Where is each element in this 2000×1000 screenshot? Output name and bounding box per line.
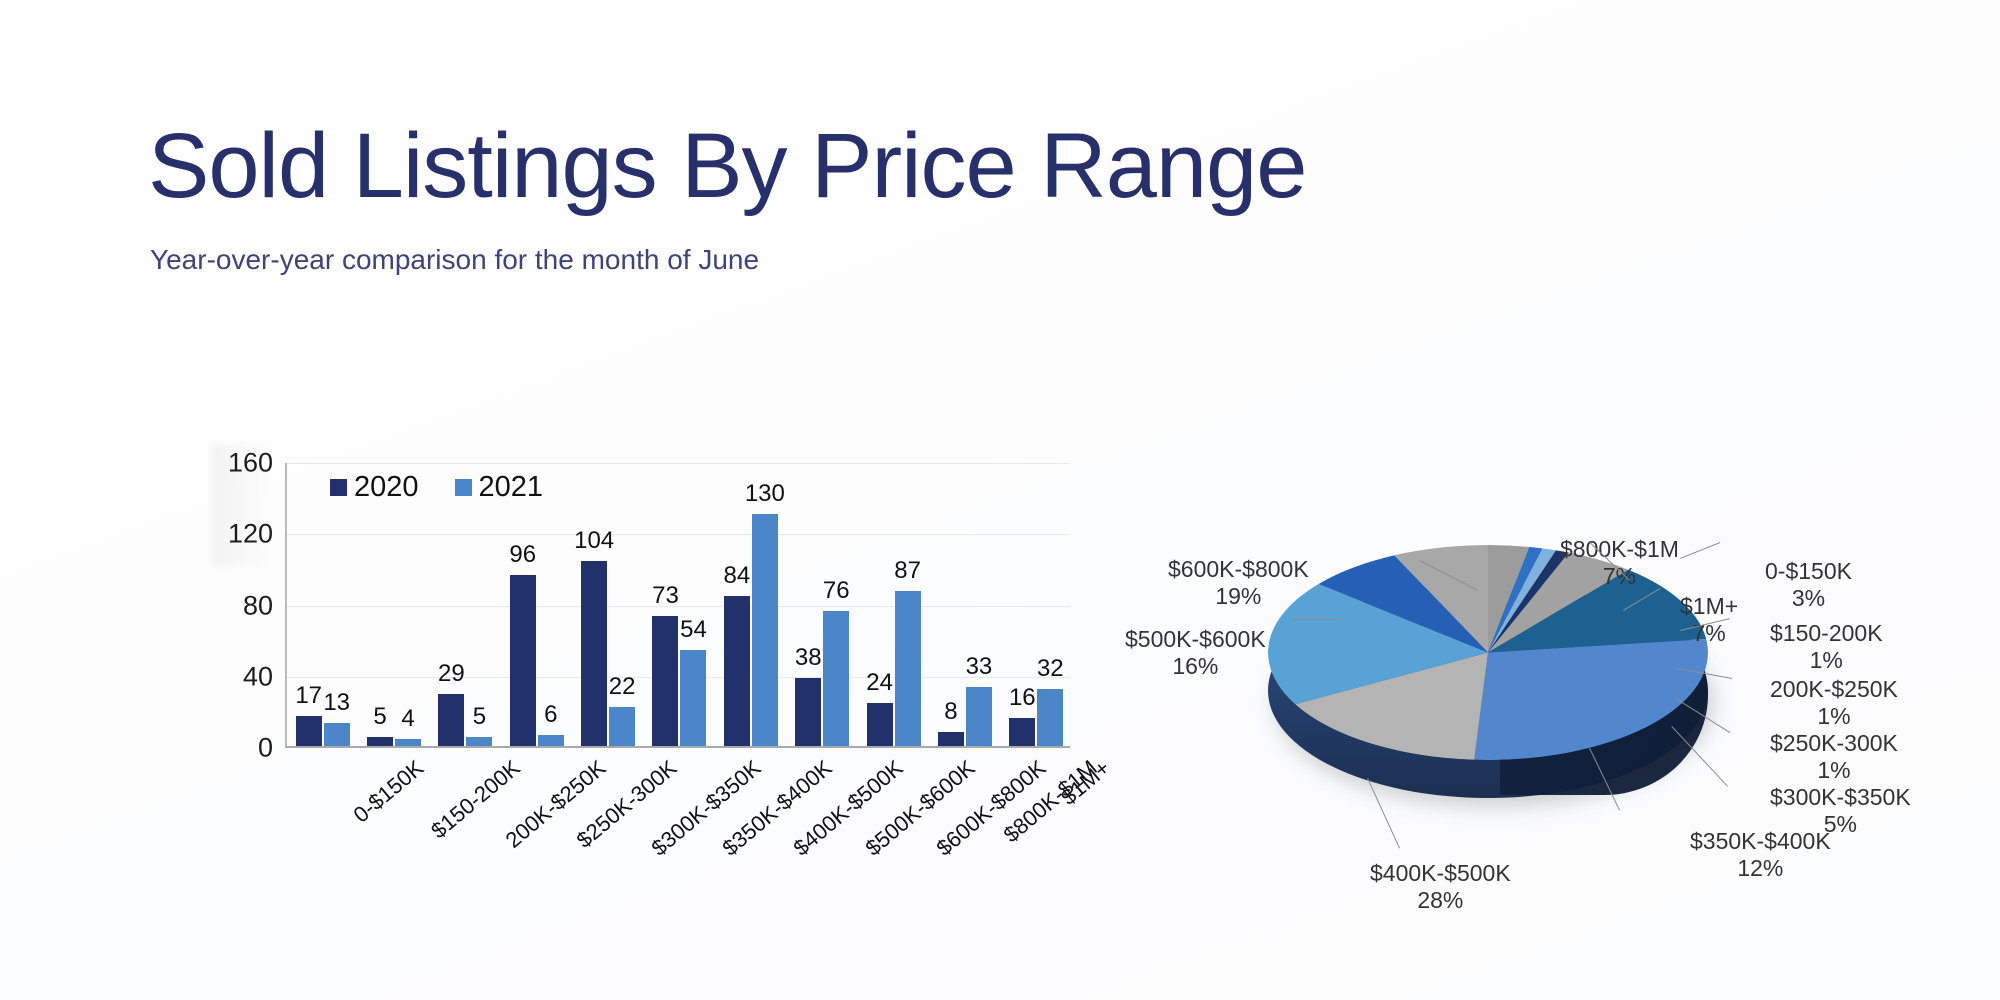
y-axis-tick: 160	[228, 448, 273, 479]
pie-slice-name: $250K-300K	[1770, 730, 1898, 757]
bar-2021[interactable]: 4	[395, 739, 421, 746]
bar-2020[interactable]: 17	[296, 716, 322, 746]
bar-2021[interactable]: 87	[895, 591, 921, 746]
bar-value-label: 16	[1009, 684, 1036, 712]
legend-swatch	[330, 479, 347, 496]
legend-item[interactable]: 2020	[330, 471, 419, 504]
bar-2020[interactable]: 5	[367, 737, 393, 746]
bar-2020[interactable]: 16	[1009, 718, 1035, 747]
bar-2021[interactable]: 5	[466, 737, 492, 746]
pie-slice-percent: 28%	[1370, 887, 1511, 914]
pie-slice-percent: 1%	[1770, 757, 1898, 784]
bar-value-label: 104	[574, 527, 614, 555]
bar-value-label: 17	[295, 682, 322, 710]
bar-value-label: 5	[473, 703, 486, 731]
bar-group[interactable]: 1632	[1001, 463, 1072, 746]
bar-group[interactable]: 1713	[287, 463, 358, 746]
bar-value-label: 38	[795, 644, 822, 672]
pie-slice-label: $600K-$800K19%	[1168, 556, 1309, 610]
bar-2020[interactable]: 73	[652, 616, 678, 746]
bar-2021[interactable]: 6	[538, 735, 564, 746]
page-subtitle: Year-over-year comparison for the month …	[150, 244, 759, 276]
bar-value-label: 8	[944, 698, 957, 726]
bar-2020[interactable]: 8	[938, 732, 964, 746]
pie-slice-percent: 1%	[1770, 647, 1883, 674]
bar-2021[interactable]: 76	[823, 611, 849, 746]
pie-slice-label: $350K-$400K12%	[1690, 828, 1831, 882]
bar-value-label: 13	[323, 689, 350, 717]
bar-value-label: 22	[609, 673, 636, 701]
bar-group[interactable]: 833	[929, 463, 1000, 746]
pie-slice-percent: 1%	[1770, 703, 1898, 730]
y-axis-tick: 40	[243, 661, 273, 692]
pie-slice-label: $250K-300K1%	[1770, 730, 1898, 784]
pie-slice-percent: 16%	[1125, 653, 1266, 680]
legend-label: 2020	[354, 471, 419, 504]
bar-group[interactable]: 7354	[644, 463, 715, 746]
pie-slice-label: 0-$150K3%	[1765, 558, 1852, 612]
bar-group[interactable]: 966	[501, 463, 572, 746]
bar-value-label: 87	[894, 557, 921, 585]
bar-value-label: 96	[509, 541, 536, 569]
pie-slice-label: $1M+7%	[1680, 593, 1738, 647]
y-axis-tick: 120	[228, 519, 273, 550]
bar-2020[interactable]: 38	[795, 678, 821, 746]
pie-slice-percent: 19%	[1168, 583, 1309, 610]
legend-item[interactable]: 2021	[455, 471, 544, 504]
pie-slice-name: $800K-$1M	[1560, 536, 1679, 563]
bar-value-label: 5	[373, 703, 386, 731]
pie-slice-name: $350K-$400K	[1690, 828, 1831, 855]
pie-slice-name: $500K-$600K	[1125, 626, 1266, 653]
bar-2021[interactable]: 54	[680, 650, 706, 746]
x-axis-label: 0-$150K	[349, 755, 429, 828]
bar-chart[interactable]: 0408012016017135429596610422735484130387…	[200, 443, 1095, 863]
pie-slice-name: $150-200K	[1770, 620, 1883, 647]
pie-leader-line	[1290, 619, 1338, 620]
bar-value-label: 24	[866, 669, 893, 697]
y-axis-tick: 0	[258, 733, 273, 764]
pie-slice-percent: 7%	[1560, 563, 1679, 590]
pie-slice-name: $400K-$500K	[1370, 860, 1511, 887]
bar-2020[interactable]: 104	[581, 561, 607, 746]
pie-slice-name: $1M+	[1680, 593, 1738, 620]
bar-group[interactable]: 2487	[858, 463, 929, 746]
pie-slice-label: 200K-$250K1%	[1770, 676, 1898, 730]
legend-label: 2021	[479, 471, 544, 504]
bar-value-label: 130	[745, 480, 785, 508]
pie-chart[interactable]: $600K-$800K19%$800K-$1M7%$1M+7%0-$150K3%…	[1120, 430, 2000, 870]
bar-value-label: 32	[1037, 655, 1064, 683]
bar-2021[interactable]: 32	[1037, 689, 1063, 746]
pie-slice-name: 200K-$250K	[1770, 676, 1898, 703]
bar-group[interactable]: 84130	[715, 463, 786, 746]
bar-group[interactable]: 295	[430, 463, 501, 746]
bar-2021[interactable]: 33	[966, 687, 992, 746]
bar-group[interactable]: 54	[358, 463, 429, 746]
bar-value-label: 84	[723, 562, 750, 590]
bar-2021[interactable]: 130	[752, 514, 778, 746]
y-axis-tick: 80	[243, 590, 273, 621]
pie-slice-percent: 3%	[1765, 585, 1852, 612]
bar-group[interactable]: 10422	[572, 463, 643, 746]
legend-swatch	[455, 479, 472, 496]
pie-slice-label: $400K-$500K28%	[1370, 860, 1511, 914]
pie-slice-percent: 12%	[1690, 855, 1831, 882]
bar-2021[interactable]: 13	[324, 723, 350, 746]
bar-value-label: 29	[438, 660, 465, 688]
pie-slice-name: $600K-$800K	[1168, 556, 1309, 583]
pie-slice-name: 0-$150K	[1765, 558, 1852, 585]
pie-slice-label: $500K-$600K16%	[1125, 626, 1266, 680]
pie-slice-name: $300K-$350K	[1770, 784, 1911, 811]
pie-slice-label: $800K-$1M7%	[1560, 536, 1679, 590]
bar-group[interactable]: 3876	[787, 463, 858, 746]
slide-canvas: Sold Listings By Price Range Year-over-y…	[0, 0, 2000, 1000]
bar-2020[interactable]: 29	[438, 694, 464, 746]
bar-value-label: 73	[652, 582, 679, 610]
bar-value-label: 6	[544, 701, 557, 729]
bar-chart-legend: 20202021	[330, 471, 543, 504]
bar-value-label: 33	[966, 653, 993, 681]
bar-2021[interactable]: 22	[609, 707, 635, 746]
bar-value-label: 4	[401, 705, 414, 733]
bar-plot-area: 0408012016017135429596610422735484130387…	[285, 463, 1070, 748]
bar-value-label: 76	[823, 577, 850, 605]
page-title: Sold Listings By Price Range	[148, 120, 1306, 212]
bar-2020[interactable]: 24	[867, 703, 893, 746]
bar-value-label: 54	[680, 616, 707, 644]
bar-2020[interactable]: 84	[724, 596, 750, 746]
pie-slice-label: $150-200K1%	[1770, 620, 1883, 674]
bar-2020[interactable]: 96	[510, 575, 536, 746]
